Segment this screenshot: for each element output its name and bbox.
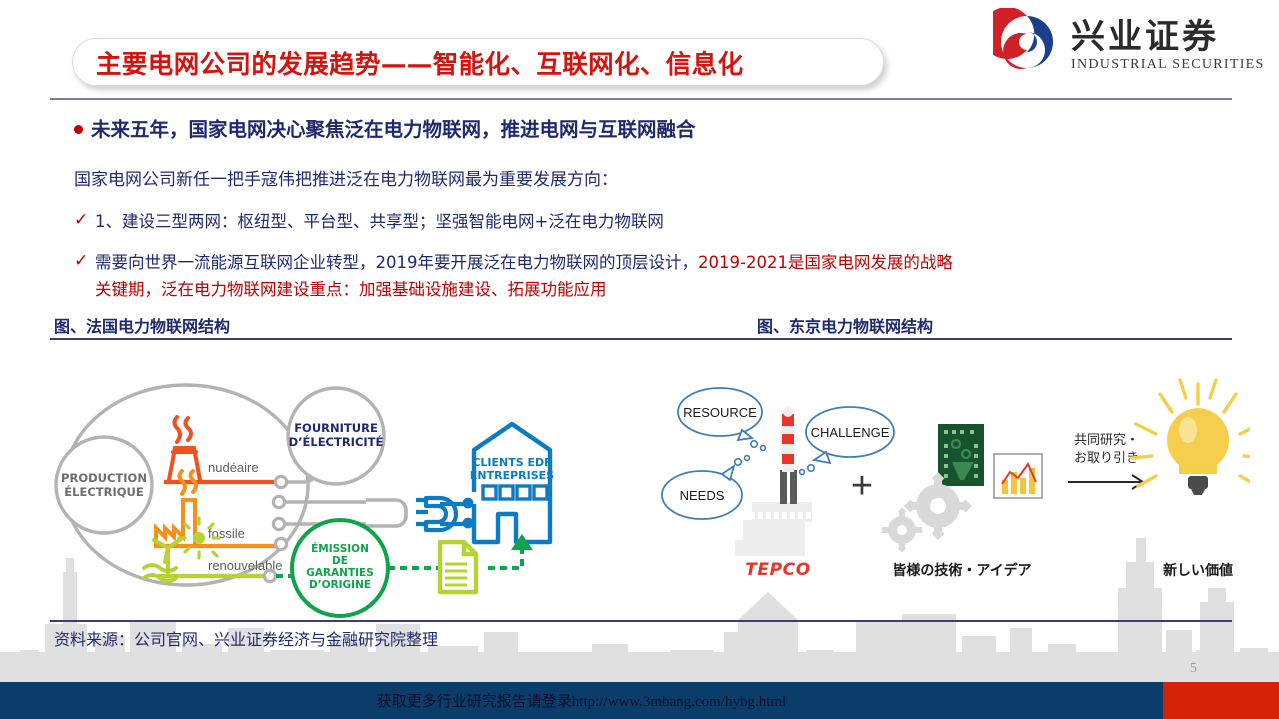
check-item-1: ✓ 1、建设三型两网：枢纽型、平台型、共享型；坚强智能电网+泛在电力物联网 — [74, 209, 1234, 236]
emission-label-line4: D’ORIGINE — [309, 579, 371, 591]
certificate-document-icon — [440, 542, 476, 592]
company-logo: 兴业证券 INDUSTRIAL SECURITIES — [993, 8, 1263, 80]
production-label-line1: PRODUCTION — [61, 471, 147, 485]
figure-caption-right: 图、东京电力物联网结构 — [757, 313, 933, 337]
tepco-label: TEPCO — [745, 560, 811, 580]
emission-label-line1: ÉMISSION — [311, 542, 369, 555]
arrow-caption-line2: お取り引き — [1074, 451, 1139, 466]
plug-icon — [416, 498, 464, 530]
tech-label: 皆様の技術・アイデア — [892, 562, 1031, 579]
bottom-banner-accent — [1163, 682, 1279, 719]
house-plug-nodes — [463, 498, 474, 529]
source-note: 资料来源：公司官网、兴业证券经济与金融研究院整理 — [54, 626, 438, 650]
bottom-banner-link[interactable]: 获取更多行业研究报告请登录http://www.3mbang.com/hybg.… — [0, 682, 1163, 719]
main-bullet-heading: 未来五年，国家电网决心聚焦泛在电力物联网，推进电网与互联网融合 — [74, 113, 1194, 141]
bubble-challenge-label: CHALLENGE — [811, 425, 890, 440]
check-mark-icon: ✓ — [74, 210, 88, 230]
fourniture-label-line1: FOURNITURE — [294, 421, 378, 435]
emission-label-line3: GARANTIES — [306, 567, 374, 579]
check-item-1-text: 1、建设三型两网：枢纽型、平台型、共享型；坚强智能电网+泛在电力物联网 — [95, 209, 1234, 236]
new-value-label: 新しい価値 — [1163, 562, 1233, 579]
production-label-line2: ÉLECTRIQUE — [64, 484, 144, 499]
lightbulb-icon — [1132, 380, 1250, 495]
nuclear-label: nudéaire — [208, 460, 259, 475]
clients-label-line2: ENTREPRISES — [470, 469, 554, 482]
chart-icon — [994, 454, 1042, 498]
figure-caption-left: 图、法国电力物联网结构 — [54, 313, 230, 337]
page-title: 主要电网公司的发展趋势——智能化、互联网化、信息化 — [96, 44, 896, 82]
plus-sign: + — [851, 465, 873, 507]
check-item-2-segment-red-b: 关键期，泛在电力物联网建设重点：加强基础设施建设、拓展功能应用 — [95, 280, 607, 299]
check-mark-icon: ✓ — [74, 251, 88, 271]
main-bullet-text: 未来五年，国家电网决心聚焦泛在电力物联网，推进电网与互联网融合 — [91, 118, 696, 141]
arrow-caption-line1: 共同研究・ — [1074, 433, 1139, 448]
logo-name-cn: 兴业证券 — [1071, 17, 1219, 57]
slide-canvas: 兴业证券 INDUSTRIAL SECURITIES 主要电网公司的发展趋势——… — [0, 0, 1279, 719]
header-divider — [50, 98, 1232, 100]
check-item-2-segment-navy: 需要向世界一流能源互联网企业转型，2019年要开展泛在电力物联网的顶层设计， — [95, 253, 698, 272]
logo-swirl-icon — [993, 8, 1053, 69]
circuit-board-icon — [938, 424, 984, 486]
source-divider — [50, 620, 1232, 622]
check-item-2-segment-red-a: 2019-2021是国家电网发展的战略 — [698, 253, 953, 272]
bottom-banner: 获取更多行业研究报告请登录http://www.3mbang.com/hybg.… — [0, 682, 1279, 719]
figure-divider — [50, 338, 1232, 340]
check-item-2-text: 需要向世界一流能源互联网企业转型，2019年要开展泛在电力物联网的顶层设计，20… — [95, 250, 1234, 303]
logo-name-en: INDUSTRIAL SECURITIES — [1071, 57, 1263, 72]
bubble-challenge: CHALLENGE — [800, 407, 894, 474]
house-windows — [483, 486, 547, 499]
bubble-needs-label: NEEDS — [680, 488, 725, 503]
france-iot-diagram: PRODUCTION ÉLECTRIQUE nudéaire fossile — [36, 372, 626, 622]
grey-cable — [366, 500, 406, 526]
page-number: 5 — [1190, 661, 1197, 677]
bubble-needs: NEEDS — [662, 456, 749, 519]
emission-label-line2: DE — [332, 555, 348, 567]
tokyo-iot-diagram: RESOURCE CHALLENGE NEEDS — [650, 372, 1250, 602]
nuclear-plant-icon — [169, 417, 200, 480]
check-item-2: ✓ 需要向世界一流能源互联网企业转型，2019年要开展泛在电力物联网的顶层设计，… — [74, 250, 1234, 303]
collaboration-arrow-icon — [1068, 475, 1143, 489]
clients-house-icon — [474, 424, 550, 542]
lead-paragraph: 国家电网公司新任一把手寇伟把推进泛在电力物联网最为重要发展方向： — [74, 165, 1214, 190]
bubble-resource: RESOURCE — [678, 388, 765, 450]
bubble-resource-label: RESOURCE — [683, 405, 757, 420]
fourniture-label-line2: D’ÉLECTRICITÉ — [289, 434, 384, 449]
clients-label-line1: CLIENTS EDF — [472, 456, 551, 469]
bullet-dot-icon — [74, 125, 83, 134]
